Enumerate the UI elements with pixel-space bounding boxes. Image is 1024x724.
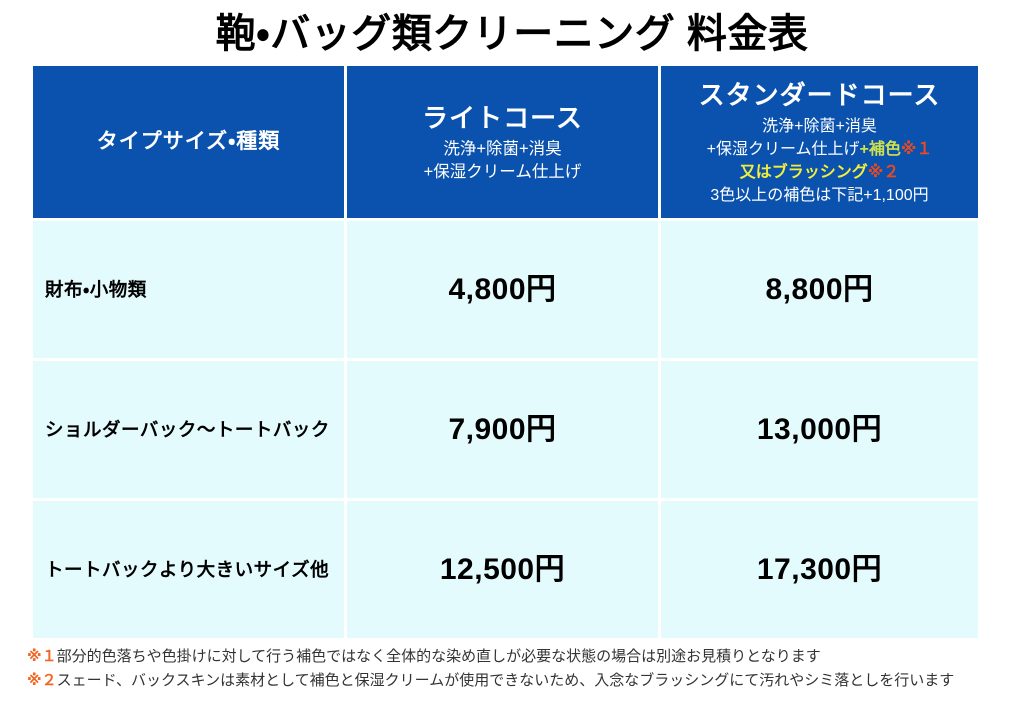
standard-course-hoshoku-label: +補色 xyxy=(859,141,900,158)
table-header-row: タイプサイズ・種類 ライトコース 洗浄+除菌+消臭 +保湿クリーム仕上げ スタン… xyxy=(33,66,978,221)
light-course-name: ライトコース xyxy=(347,100,658,136)
header-cell-standard-course: スタンダードコース 洗浄+除菌+消臭 +保湿クリーム仕上げ+補色※１ 又はブラッ… xyxy=(661,66,978,221)
standard-course-desc-line2: +保湿クリーム仕上げ+補色※１ xyxy=(661,138,978,161)
standard-course-brushing-label: 又はブラッシング xyxy=(740,164,868,181)
row-standard-price: 17,300円 xyxy=(661,501,978,638)
footnote-2: ※２スェード、バックスキンは素材として補色と保湿クリームが使用できないため、入念… xyxy=(27,669,1002,693)
light-course-desc-line1: 洗浄+除菌+消臭 xyxy=(347,138,658,161)
row-type-label: 財布・小物類 xyxy=(33,221,347,361)
table-body: 財布・小物類 4,800円 8,800円 ショルダーバック〜トートバック 7,9… xyxy=(33,221,978,638)
table-row: 財布・小物類 4,800円 8,800円 xyxy=(33,221,978,361)
row-type-label: トートバックより大きいサイズ他 xyxy=(33,501,347,638)
row-standard-price: 8,800円 xyxy=(661,221,978,361)
footnotes: ※１部分的色落ちや色掛けに対して行う補色ではなく全体的な染め直しが必要な状態の場… xyxy=(27,645,1002,693)
footnote-2-text: スェード、バックスキンは素材として補色と保湿クリームが使用できないため、入念なブ… xyxy=(57,672,955,689)
standard-course-desc-line4: 3色以上の補色は下記+1,100円 xyxy=(661,184,978,207)
standard-course-note-mark-1: ※１ xyxy=(901,141,933,158)
table-header: タイプサイズ・種類 ライトコース 洗浄+除菌+消臭 +保湿クリーム仕上げ スタン… xyxy=(33,66,978,221)
standard-course-desc-line3: 又はブラッシング※２ xyxy=(661,161,978,184)
row-light-price: 4,800円 xyxy=(347,221,661,361)
header-cell-type: タイプサイズ・種類 xyxy=(33,66,347,221)
row-type-label: ショルダーバック〜トートバック xyxy=(33,361,347,501)
header-type-label: タイプサイズ・種類 xyxy=(97,130,281,153)
price-table: タイプサイズ・種類 ライトコース 洗浄+除菌+消臭 +保湿クリーム仕上げ スタン… xyxy=(33,66,978,638)
standard-course-desc-line1: 洗浄+除菌+消臭 xyxy=(661,115,978,138)
table-row: トートバックより大きいサイズ他 12,500円 17,300円 xyxy=(33,501,978,638)
row-light-price: 7,900円 xyxy=(347,361,661,501)
standard-course-note-mark-2: ※２ xyxy=(868,164,900,181)
header-cell-light-course: ライトコース 洗浄+除菌+消臭 +保湿クリーム仕上げ xyxy=(347,66,661,221)
row-standard-price: 13,000円 xyxy=(661,361,978,501)
light-course-desc-line2: +保湿クリーム仕上げ xyxy=(347,161,658,184)
table-row: ショルダーバック〜トートバック 7,900円 13,000円 xyxy=(33,361,978,501)
footnote-1-text: 部分的色落ちや色掛けに対して行う補色ではなく全体的な染め直しが必要な状態の場合は… xyxy=(57,648,821,665)
row-light-price: 12,500円 xyxy=(347,501,661,638)
footnote-2-mark: ※２ xyxy=(27,672,57,689)
standard-course-name: スタンダードコース xyxy=(661,77,978,113)
price-list-page: 鞄・バッグ類クリーニング 料金表 タイプサイズ・種類 ライトコース 洗浄+除菌+… xyxy=(0,0,1024,724)
page-title: 鞄・バッグ類クリーニング 料金表 xyxy=(0,8,1024,60)
standard-course-desc-line2-plain: +保湿クリーム仕上げ xyxy=(707,141,860,158)
footnote-1: ※１部分的色落ちや色掛けに対して行う補色ではなく全体的な染め直しが必要な状態の場… xyxy=(27,645,1002,669)
footnote-1-mark: ※１ xyxy=(27,648,57,665)
